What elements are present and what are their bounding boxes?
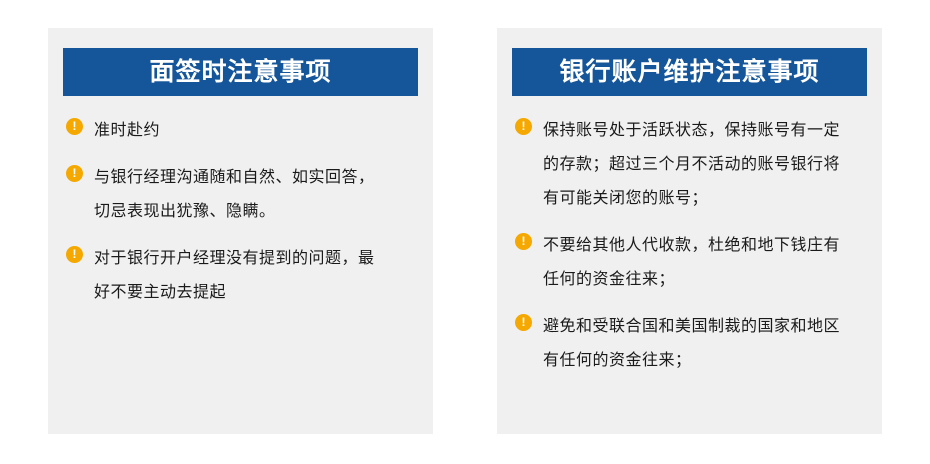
notice-list-interview: ! 准时赴约 ! 与银行经理沟通随和自然、如实回答，切忌表现出犹豫、隐瞒。 ! …: [66, 114, 409, 310]
notice-board: 面签时注意事项 ! 准时赴约 ! 与银行经理沟通随和自然、如实回答，切忌表现出犹…: [0, 0, 930, 464]
exclamation-icon: !: [515, 118, 532, 135]
exclamation-icon: !: [515, 314, 532, 331]
list-item-text: 对于银行开户经理没有提到的问题，最好不要主动去提起: [94, 242, 384, 310]
exclamation-icon: !: [515, 233, 532, 250]
panel-account-maintenance-notes: 银行账户维护注意事项 ! 保持账号处于活跃状态，保持账号有一定的存款；超过三个月…: [497, 28, 882, 434]
panel-body-interview-notes: ! 准时赴约 ! 与银行经理沟通随和自然、如实回答，切忌表现出犹豫、隐瞒。 ! …: [48, 96, 433, 434]
list-item: ! 对于银行开户经理没有提到的问题，最好不要主动去提起: [66, 242, 409, 310]
list-item-text: 准时赴约: [94, 114, 160, 148]
notice-list-account-maintenance: ! 保持账号处于活跃状态，保持账号有一定的存款；超过三个月不活动的账号银行将有可…: [515, 114, 858, 378]
exclamation-icon: !: [66, 246, 83, 263]
list-item-text: 保持账号处于活跃状态，保持账号有一定的存款；超过三个月不活动的账号银行将有可能关…: [543, 114, 843, 216]
panel-title: 银行账户维护注意事项: [559, 60, 819, 85]
list-item-text: 避免和受联合国和美国制裁的国家和地区有任何的资金往来；: [543, 310, 843, 378]
panel-header-interview-notes: 面签时注意事项: [63, 48, 418, 96]
list-item: ! 不要给其他人代收款，杜绝和地下钱庄有任何的资金往来；: [515, 229, 858, 297]
list-item: ! 避免和受联合国和美国制裁的国家和地区有任何的资金往来；: [515, 310, 858, 378]
panel-header-account-maintenance-notes: 银行账户维护注意事项: [512, 48, 867, 96]
exclamation-icon: !: [66, 165, 83, 182]
list-item: ! 准时赴约: [66, 114, 409, 148]
exclamation-icon: !: [66, 118, 83, 135]
panel-title: 面签时注意事项: [149, 60, 331, 85]
panel-body-account-maintenance-notes: ! 保持账号处于活跃状态，保持账号有一定的存款；超过三个月不活动的账号银行将有可…: [497, 96, 882, 434]
list-item-text: 与银行经理沟通随和自然、如实回答，切忌表现出犹豫、隐瞒。: [94, 161, 384, 229]
list-item: ! 保持账号处于活跃状态，保持账号有一定的存款；超过三个月不活动的账号银行将有可…: [515, 114, 858, 216]
panel-interview-notes: 面签时注意事项 ! 准时赴约 ! 与银行经理沟通随和自然、如实回答，切忌表现出犹…: [48, 28, 433, 434]
list-item-text: 不要给其他人代收款，杜绝和地下钱庄有任何的资金往来；: [543, 229, 843, 297]
list-item: ! 与银行经理沟通随和自然、如实回答，切忌表现出犹豫、隐瞒。: [66, 161, 409, 229]
